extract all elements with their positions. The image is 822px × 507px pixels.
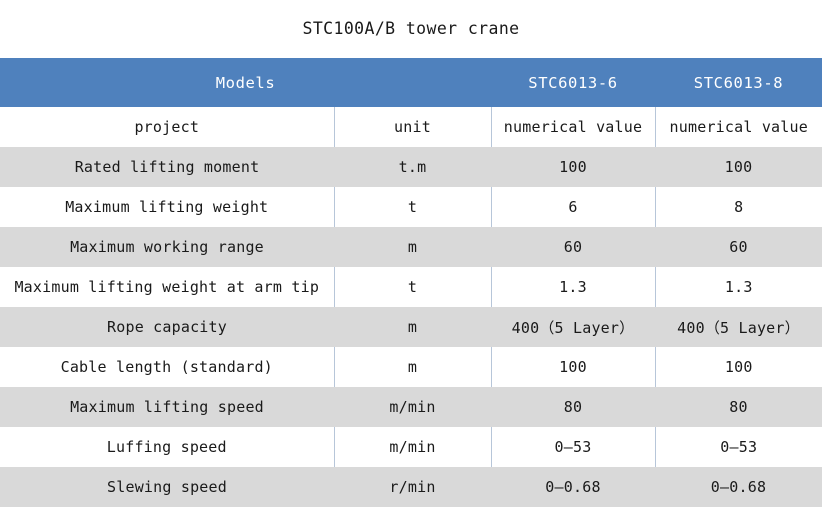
table-row: Maximum working range m 60 60 — [0, 227, 822, 267]
row-value-1: 400（5 Layer） — [491, 307, 655, 347]
table-row: Luffing speed m/min 0—53 0—53 — [0, 427, 822, 467]
specification-table: Models STC6013-6 STC6013-8 project unit … — [0, 58, 822, 507]
page-root: STC100A/B tower crane Models STC6013-6 S… — [0, 0, 822, 507]
page-title: STC100A/B tower crane — [0, 0, 822, 58]
row-value-1: 0—53 — [491, 427, 655, 467]
column-header-unit: unit — [334, 107, 491, 147]
row-unit: m — [334, 347, 491, 387]
row-value-1: 100 — [491, 347, 655, 387]
header-model-2: STC6013-8 — [655, 58, 822, 107]
table-row: Slewing speed r/min 0—0.68 0—0.68 — [0, 467, 822, 507]
column-header-project: project — [0, 107, 334, 147]
row-unit: m/min — [334, 427, 491, 467]
row-project: Slewing speed — [0, 467, 334, 507]
row-value-2: 0—53 — [655, 427, 822, 467]
table-header-row: Models STC6013-6 STC6013-8 — [0, 58, 822, 107]
row-value-2: 60 — [655, 227, 822, 267]
row-value-1: 100 — [491, 147, 655, 187]
row-project: Luffing speed — [0, 427, 334, 467]
table-row: project unit numerical value numerical v… — [0, 107, 822, 147]
row-unit: m — [334, 307, 491, 347]
column-header-value-1: numerical value — [491, 107, 655, 147]
row-value-1: 6 — [491, 187, 655, 227]
row-unit: r/min — [334, 467, 491, 507]
row-unit: m/min — [334, 387, 491, 427]
table-row: Maximum lifting speed m/min 80 80 — [0, 387, 822, 427]
row-unit: t.m — [334, 147, 491, 187]
table-row: Maximum lifting weight t 6 8 — [0, 187, 822, 227]
row-unit: t — [334, 267, 491, 307]
row-project: Maximum working range — [0, 227, 334, 267]
row-value-1: 80 — [491, 387, 655, 427]
row-value-2: 1.3 — [655, 267, 822, 307]
row-value-2: 8 — [655, 187, 822, 227]
row-project: Maximum lifting speed — [0, 387, 334, 427]
row-project: Maximum lifting weight — [0, 187, 334, 227]
row-unit: t — [334, 187, 491, 227]
table-row: Rated lifting moment t.m 100 100 — [0, 147, 822, 187]
row-value-2: 400（5 Layer） — [655, 307, 822, 347]
row-project: Rope capacity — [0, 307, 334, 347]
row-value-1: 0—0.68 — [491, 467, 655, 507]
table-row: Rope capacity m 400（5 Layer） 400（5 Layer… — [0, 307, 822, 347]
row-project: Maximum lifting weight at arm tip — [0, 267, 334, 307]
row-value-2: 0—0.68 — [655, 467, 822, 507]
header-model-1: STC6013-6 — [491, 58, 655, 107]
row-value-1: 1.3 — [491, 267, 655, 307]
row-value-2: 100 — [655, 147, 822, 187]
header-models: Models — [0, 58, 491, 107]
table-row: Maximum lifting weight at arm tip t 1.3 … — [0, 267, 822, 307]
row-value-1: 60 — [491, 227, 655, 267]
row-value-2: 80 — [655, 387, 822, 427]
row-value-2: 100 — [655, 347, 822, 387]
row-unit: m — [334, 227, 491, 267]
column-header-value-2: numerical value — [655, 107, 822, 147]
row-project: Cable length (standard) — [0, 347, 334, 387]
table-row: Cable length (standard) m 100 100 — [0, 347, 822, 387]
row-project: Rated lifting moment — [0, 147, 334, 187]
